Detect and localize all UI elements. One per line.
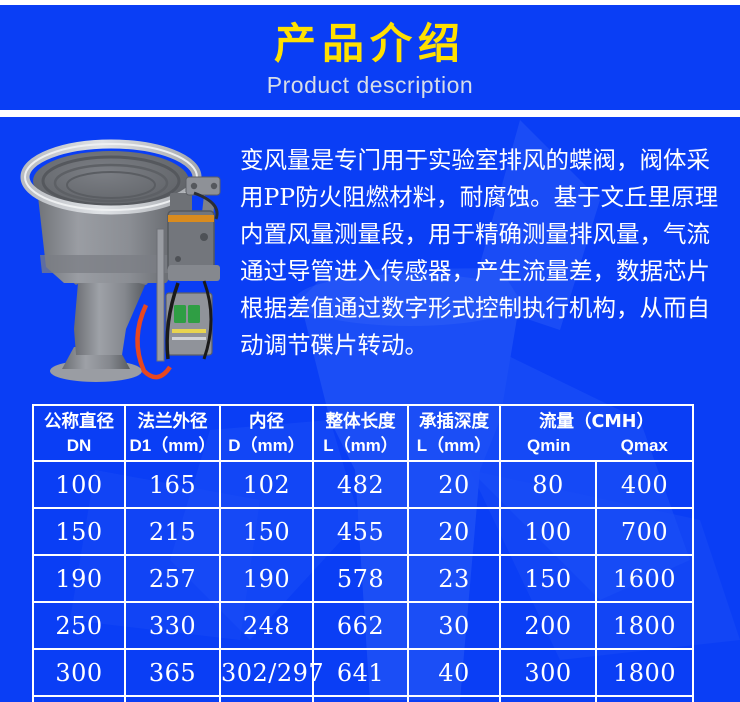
cell-qmax: 1600 xyxy=(596,555,693,602)
cell-depth: 40 xyxy=(408,649,500,696)
cell-qmin: 100 xyxy=(500,508,596,555)
cell-depth: 20 xyxy=(408,461,500,508)
cell-d1: 215 xyxy=(125,508,220,555)
table-row: 100 165 102 482 20 80 400 xyxy=(33,461,693,508)
cell-qmin: 300 xyxy=(500,649,596,696)
cell-qmin: 200 xyxy=(500,602,596,649)
spec-table: 公称直径 DN 法兰外径 D1（mm） 内径 D（mm） 整体长度 L（mm） xyxy=(32,404,694,702)
cell-depth: 35 xyxy=(408,696,500,702)
table-row: 300 365 302/297 641 40 300 1800 xyxy=(33,649,693,696)
header-flange-od-cn: 法兰外径 xyxy=(126,410,219,434)
product-description-page: 产品介绍 Product description xyxy=(0,0,740,702)
cell-qmin: 200 xyxy=(500,696,596,702)
cell-d: 190 xyxy=(220,555,313,602)
cell-qmax: 1800 xyxy=(596,649,693,696)
header-overall-length-cn: 整体长度 xyxy=(314,410,407,434)
cell-length: 482 xyxy=(313,461,408,508)
cell-qmax: 1800 xyxy=(596,602,693,649)
table-row: 250 330 248 662 30 200 1800 xyxy=(33,602,693,649)
cell-qmax: 700 xyxy=(596,508,693,555)
cell-qmin: 150 xyxy=(500,555,596,602)
cell-dn: 300 xyxy=(33,649,125,696)
cell-d1: 440 xyxy=(125,696,220,702)
table-row: 190 257 190 578 23 150 1600 xyxy=(33,555,693,602)
table-row: 355 440 350/355 745 35 200 2500 xyxy=(33,696,693,702)
spec-table-container: 公称直径 DN 法兰外径 D1（mm） 内径 D（mm） 整体长度 L（mm） xyxy=(32,404,692,702)
cell-d: 302/297 xyxy=(220,649,313,696)
page-title-cn: 产品介绍 xyxy=(0,5,740,65)
table-body: 100 165 102 482 20 80 400 150 215 150 45… xyxy=(33,461,693,702)
cell-dn: 150 xyxy=(33,508,125,555)
product-description-text: 变风量是专门用于实验室排风的蝶阀，阀体采用PP防火阻燃材料，耐腐蚀。基于文丘里原… xyxy=(240,142,720,364)
header-flow-cn: 流量（CMH） xyxy=(501,410,692,434)
header-dn-cn: 公称直径 xyxy=(34,410,124,434)
header-inner-dia: 内径 D（mm） xyxy=(220,405,313,461)
cell-d: 350/355 xyxy=(220,696,313,702)
header-qmin: Qmin xyxy=(501,434,597,457)
page-title-en: Product description xyxy=(0,65,740,97)
cell-length: 455 xyxy=(313,508,408,555)
header-socket-depth: 承插深度 L（mm） xyxy=(408,405,500,461)
page-header: 产品介绍 Product description xyxy=(0,5,740,110)
header-divider xyxy=(0,110,740,117)
cell-dn: 355 xyxy=(33,696,125,702)
cell-d: 150 xyxy=(220,508,313,555)
cell-depth: 30 xyxy=(408,602,500,649)
header-overall-length-en: L（mm） xyxy=(314,434,407,457)
top-edge-strip xyxy=(0,0,740,5)
header-dn: 公称直径 DN xyxy=(33,405,125,461)
header-overall-length: 整体长度 L（mm） xyxy=(313,405,408,461)
product-photo xyxy=(18,133,240,383)
header-dn-en: DN xyxy=(34,434,124,457)
cell-depth: 20 xyxy=(408,508,500,555)
header-inner-dia-cn: 内径 xyxy=(221,410,312,434)
header-socket-depth-cn: 承插深度 xyxy=(409,410,499,434)
cell-d1: 330 xyxy=(125,602,220,649)
table-header-row: 公称直径 DN 法兰外径 D1（mm） 内径 D（mm） 整体长度 L（mm） xyxy=(33,405,693,461)
cell-dn: 100 xyxy=(33,461,125,508)
cell-d1: 257 xyxy=(125,555,220,602)
cell-depth: 23 xyxy=(408,555,500,602)
header-socket-depth-en: L（mm） xyxy=(409,434,499,457)
header-flow: 流量（CMH） Qmin Qmax xyxy=(500,405,693,461)
header-flange-od-en: D1（mm） xyxy=(126,434,219,457)
cell-qmax: 400 xyxy=(596,461,693,508)
cell-qmin: 80 xyxy=(500,461,596,508)
cell-d1: 365 xyxy=(125,649,220,696)
cell-length: 641 xyxy=(313,649,408,696)
cell-length: 662 xyxy=(313,602,408,649)
cell-length: 578 xyxy=(313,555,408,602)
cell-length: 745 xyxy=(313,696,408,702)
cell-d: 248 xyxy=(220,602,313,649)
cell-dn: 250 xyxy=(33,602,125,649)
header-inner-dia-en: D（mm） xyxy=(221,434,312,457)
header-qmax: Qmax xyxy=(597,434,693,457)
cell-qmax: 2500 xyxy=(596,696,693,702)
header-flange-od: 法兰外径 D1（mm） xyxy=(125,405,220,461)
cell-d1: 165 xyxy=(125,461,220,508)
table-row: 150 215 150 455 20 100 700 xyxy=(33,508,693,555)
cell-dn: 190 xyxy=(33,555,125,602)
cell-d: 102 xyxy=(220,461,313,508)
